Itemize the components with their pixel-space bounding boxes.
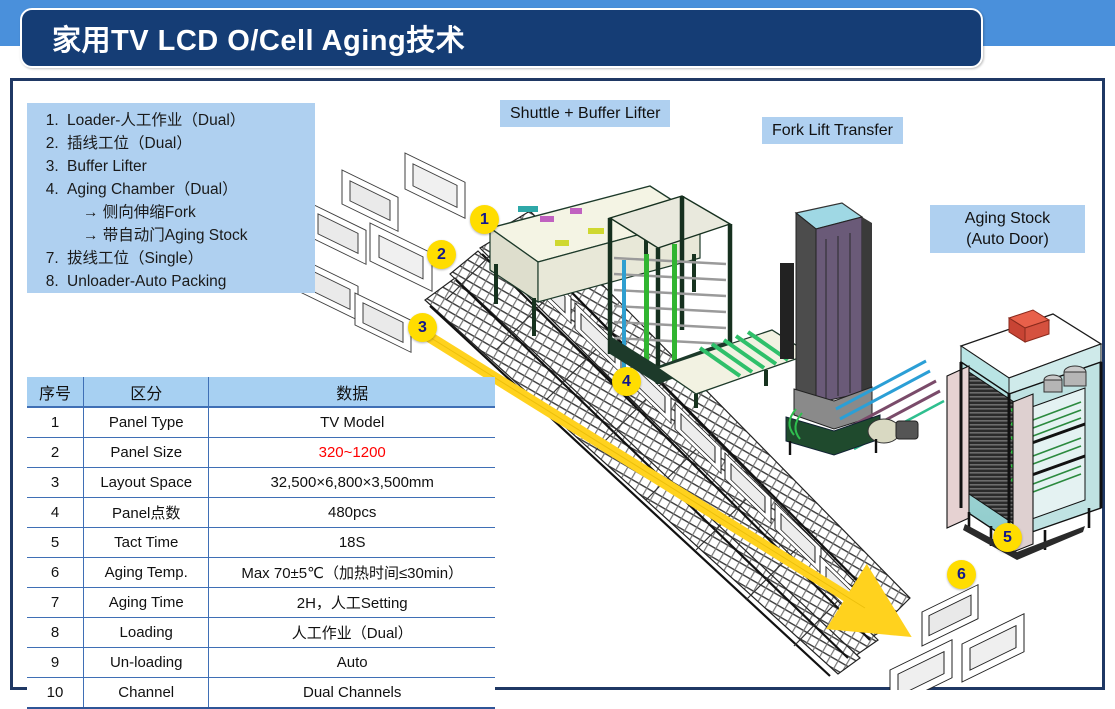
spec-cell-category: Aging Time: [84, 588, 209, 618]
callout-aging-stock-line2: (Auto Door): [940, 229, 1075, 250]
spec-header-no: 序号: [27, 377, 84, 407]
spec-cell-no: 9: [27, 648, 84, 678]
table-row: 5Tact Time18S: [27, 528, 495, 558]
spec-cell-no: 10: [27, 678, 84, 709]
process-step-ordered-list: Loader-人工作业（Dual） 插线工位（Dual） Buffer Lift…: [37, 109, 311, 293]
table-row: 4Panel点数480pcs: [27, 498, 495, 528]
spec-cell-no: 2: [27, 438, 84, 468]
spec-cell-value: 32,500×6,800×3,500mm: [209, 468, 495, 498]
process-step-list: Loader-人工作业（Dual） 插线工位（Dual） Buffer Lift…: [27, 103, 315, 293]
spec-cell-category: Channel: [84, 678, 209, 709]
title-box: 家用TV LCD O/Cell Aging技术: [20, 8, 983, 68]
spec-cell-value: Dual Channels: [209, 678, 495, 709]
spec-cell-no: 5: [27, 528, 84, 558]
step-marker-2: 2: [427, 240, 456, 269]
callout-aging-stock: Aging Stock (Auto Door): [930, 205, 1085, 253]
step-marker-1: 1: [470, 205, 499, 234]
table-row: 2Panel Size320~1200: [27, 438, 495, 468]
spec-cell-no: 6: [27, 558, 84, 588]
spec-header-cat: 区分: [84, 377, 209, 407]
callout-shuttle-buffer-lifter: Shuttle + Buffer Lifter: [500, 100, 670, 127]
process-step-4-sub-1: → 侧向伸缩Fork: [79, 201, 311, 224]
process-step-4: Aging Chamber（Dual）: [63, 178, 311, 201]
spec-cell-category: Aging Temp.: [84, 558, 209, 588]
process-step-6: Unloader-Auto Packing: [63, 270, 311, 293]
spec-cell-category: Un-loading: [84, 648, 209, 678]
step-marker-4: 4: [612, 367, 641, 396]
step-marker-5: 5: [993, 523, 1022, 552]
step-marker-3: 3: [408, 313, 437, 342]
spec-cell-value: 320~1200: [209, 438, 495, 468]
table-row: 6Aging Temp.Max 70±5℃（加热时间≤30min）: [27, 558, 495, 588]
table-row: 1Panel TypeTV Model: [27, 407, 495, 438]
step-marker-6: 6: [947, 560, 976, 589]
spec-cell-value: 2H，人工Setting: [209, 588, 495, 618]
spec-table-header-row: 序号 区分 数据: [27, 377, 495, 407]
spec-cell-category: Layout Space: [84, 468, 209, 498]
spec-cell-no: 4: [27, 498, 84, 528]
spec-cell-category: Panel Size: [84, 438, 209, 468]
spec-cell-value: 人工作业（Dual）: [209, 618, 495, 648]
spec-cell-no: 1: [27, 407, 84, 438]
spec-cell-category: Panel Type: [84, 407, 209, 438]
spec-table-head: 序号 区分 数据: [27, 377, 495, 407]
process-step-1: Loader-人工作业（Dual）: [63, 109, 311, 132]
spec-cell-value: TV Model: [209, 407, 495, 438]
spec-cell-value: 18S: [209, 528, 495, 558]
spec-cell-category: Loading: [84, 618, 209, 648]
process-step-3: Buffer Lifter: [63, 155, 311, 178]
table-row: 8Loading人工作业（Dual）: [27, 618, 495, 648]
spec-table-body: 1Panel TypeTV Model2Panel Size320~12003L…: [27, 407, 495, 708]
spec-cell-no: 3: [27, 468, 84, 498]
table-row: 9Un-loadingAuto: [27, 648, 495, 678]
spec-cell-category: Tact Time: [84, 528, 209, 558]
spec-cell-no: 8: [27, 618, 84, 648]
spec-cell-value: Auto: [209, 648, 495, 678]
spec-cell-no: 7: [27, 588, 84, 618]
table-row: 3Layout Space32,500×6,800×3,500mm: [27, 468, 495, 498]
page-title: 家用TV LCD O/Cell Aging技术: [52, 17, 465, 59]
table-row: 7Aging Time2H，人工Setting: [27, 588, 495, 618]
process-step-4-sub-2: → 带自动门Aging Stock: [79, 224, 311, 247]
spec-cell-value: 480pcs: [209, 498, 495, 528]
callout-aging-stock-line1: Aging Stock: [940, 208, 1075, 229]
table-row: 10ChannelDual Channels: [27, 678, 495, 709]
process-step-5: 拔线工位（Single）: [63, 247, 311, 270]
spec-table: 序号 区分 数据 1Panel TypeTV Model2Panel Size3…: [27, 377, 495, 709]
callout-fork-lift-transfer: Fork Lift Transfer: [762, 117, 903, 144]
spec-cell-value: Max 70±5℃（加热时间≤30min）: [209, 558, 495, 588]
spec-header-val: 数据: [209, 377, 495, 407]
spec-cell-category: Panel点数: [84, 498, 209, 528]
process-step-2: 插线工位（Dual）: [63, 132, 311, 155]
